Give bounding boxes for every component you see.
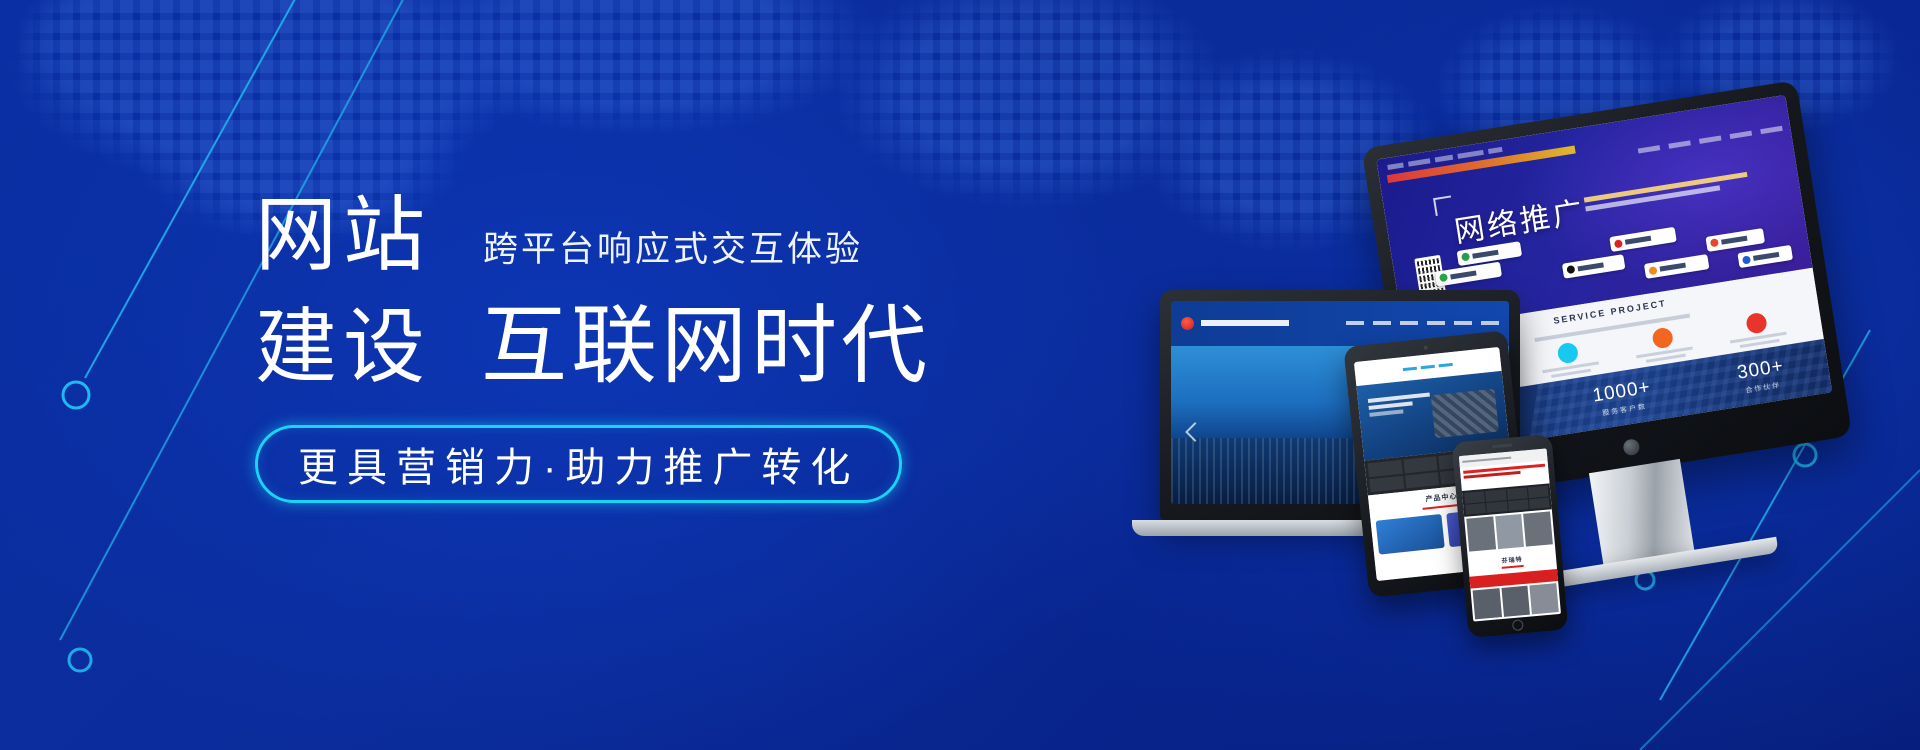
- tablet-hero-product: [1431, 388, 1499, 438]
- logo-chip: [1706, 228, 1766, 252]
- headline-keyword-2: 建设: [255, 307, 431, 389]
- headline-row-2: 建设 互联网时代: [255, 303, 1155, 389]
- phone-brand-text: 芬瑞特: [1501, 554, 1523, 565]
- phone-brand-underline: [1501, 565, 1524, 569]
- headline-highlight: 互联网时代: [481, 303, 931, 389]
- monitor-brand-logo-icon: [1622, 438, 1640, 456]
- phone-footer-row: [1470, 581, 1561, 622]
- headline-bracket-icon: [1433, 196, 1454, 217]
- device-mockup-cluster: 网络推广: [1160, 110, 1880, 670]
- hero-copy: 网站 跨平台响应式交互体验 建设 互联网时代 更具营销力·助力推广转化: [255, 195, 1155, 503]
- logo-chip: [1562, 254, 1626, 279]
- stat-item: 300+ 合作伙伴: [1736, 356, 1788, 397]
- laptop-menu-items: [1346, 321, 1499, 325]
- logo-chip: [1610, 227, 1678, 252]
- phone-speaker-icon: [1492, 443, 1512, 448]
- tablet-hero-text: [1368, 392, 1431, 419]
- phone-screen: 芬瑞特: [1459, 448, 1561, 621]
- slogan-text: 更具营销力·助力推广转化: [298, 435, 859, 493]
- headline-keyword-1: 网站: [255, 195, 431, 277]
- laptop-brand-text: [1201, 320, 1289, 326]
- laptop-brand-icon: [1181, 317, 1194, 330]
- phone-home-button-icon[interactable]: [1512, 619, 1524, 631]
- logo-chip: [1434, 261, 1502, 286]
- phone-mockup: 芬瑞特: [1452, 434, 1569, 638]
- tablet-product-card: [1376, 514, 1445, 555]
- slogan-pill: 更具营销力·助力推广转化: [255, 425, 902, 503]
- headline-row-1: 网站 跨平台响应式交互体验: [255, 195, 1155, 277]
- phone-item-row: [1464, 510, 1555, 554]
- hero-banner: 网站 跨平台响应式交互体验 建设 互联网时代 更具营销力·助力推广转化: [0, 0, 1920, 750]
- tablet-camera-icon: [1424, 345, 1428, 349]
- monitor-site-nav: [1638, 126, 1783, 154]
- hero-tagline: 跨平台响应式交互体验: [483, 232, 863, 277]
- phone-body: 芬瑞特: [1452, 434, 1569, 638]
- logo-chip: [1738, 245, 1794, 268]
- logo-chip: [1643, 254, 1709, 279]
